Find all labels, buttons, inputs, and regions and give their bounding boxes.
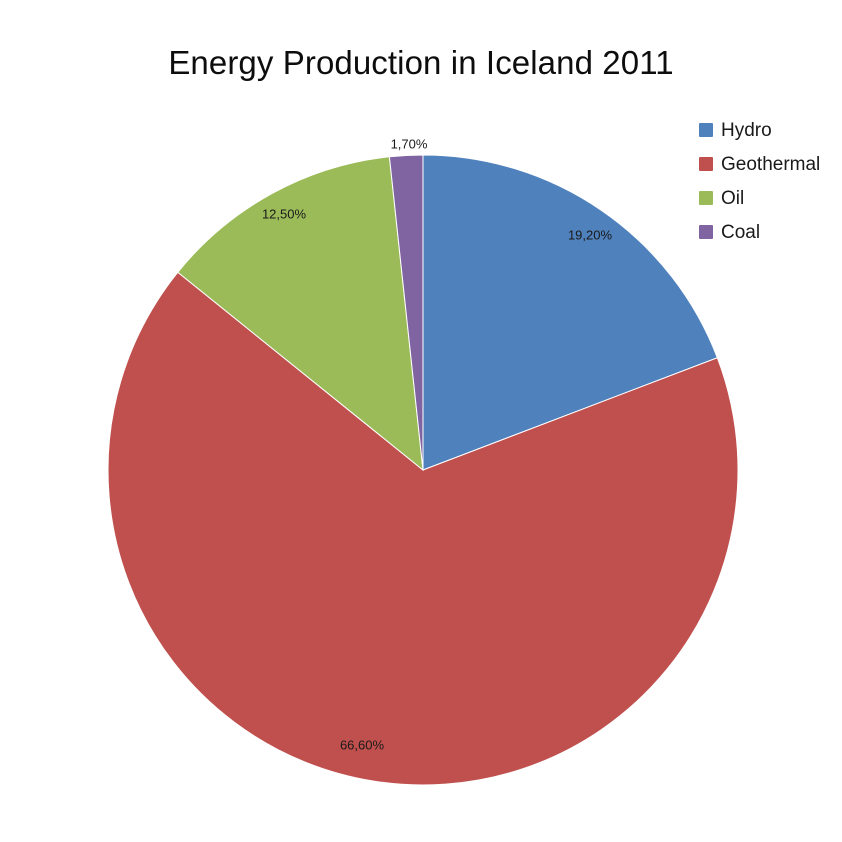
chart-title: Energy Production in Iceland 2011 bbox=[0, 44, 842, 82]
legend: Hydro Geothermal Oil Coal bbox=[699, 113, 839, 249]
legend-label-oil: Oil bbox=[721, 189, 744, 208]
legend-swatch-geothermal bbox=[699, 157, 713, 171]
pie-slice-group bbox=[108, 155, 738, 785]
pie-chart-figure: Energy Production in Iceland 2011 19,20%… bbox=[0, 0, 842, 842]
legend-swatch-coal bbox=[699, 225, 713, 239]
legend-label-geothermal: Geothermal bbox=[721, 155, 820, 174]
legend-label-coal: Coal bbox=[721, 223, 760, 242]
legend-item-geothermal[interactable]: Geothermal bbox=[699, 147, 839, 181]
legend-item-coal[interactable]: Coal bbox=[699, 215, 839, 249]
legend-label-hydro: Hydro bbox=[721, 121, 772, 140]
plot-area bbox=[108, 155, 738, 785]
legend-item-hydro[interactable]: Hydro bbox=[699, 113, 839, 147]
legend-item-oil[interactable]: Oil bbox=[699, 181, 839, 215]
legend-swatch-oil bbox=[699, 191, 713, 205]
legend-swatch-hydro bbox=[699, 123, 713, 137]
slice-label-coal: 1,70% bbox=[391, 137, 428, 152]
pie-svg bbox=[108, 155, 738, 785]
